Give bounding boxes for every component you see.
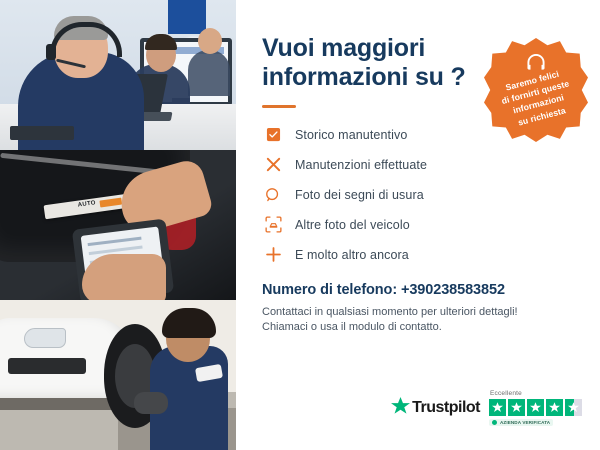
photo-mechanic-checking-tyre-on-lift: [0, 300, 236, 450]
feature-item-foto-segni-usura: Foto dei segni di usura: [262, 185, 578, 205]
feature-label: E molto altro ancora: [295, 248, 409, 262]
plus-icon: [262, 245, 284, 265]
trustpilot-star-icon: [391, 397, 410, 420]
checkbox-checked-icon: [262, 125, 284, 145]
trustpilot-wordmark: Trustpilot: [412, 399, 480, 417]
strip-logo-mark: [99, 198, 122, 208]
page-title: Vuoi maggiori informazioni su ?: [262, 34, 477, 93]
lift-platform: [0, 398, 124, 410]
star-4: [546, 399, 563, 416]
title-underline-rule: [262, 105, 296, 108]
feature-item-manutenzioni-effettuate: Manutenzioni effettuate: [262, 155, 578, 175]
trustpilot-rating: Eccellente AZIENDA VERIFICATA: [489, 390, 584, 426]
photo-column: [0, 0, 236, 450]
magnifier-icon: [262, 185, 284, 205]
headset-earcup: [46, 44, 56, 60]
background-person-2-hair: [145, 34, 177, 50]
contact-instructions: Contattaci in qualsiasi momento per ulte…: [262, 305, 578, 337]
feature-item-altre-foto-veicolo: Altre foto del veicolo: [262, 215, 578, 235]
background-person-3: [188, 50, 230, 96]
star-3: [527, 399, 544, 416]
photo-call-center-agents-with-headsets: [0, 0, 236, 150]
feature-label: Manutenzioni effettuate: [295, 158, 427, 172]
background-person-3-head: [198, 28, 222, 54]
callout-badge: Saremo felici di fornirti queste informa…: [484, 38, 588, 142]
rating-word: Eccellente: [490, 390, 522, 397]
mechanic-glove: [134, 392, 168, 414]
trustpilot-widget[interactable]: Trustpilot Eccellente AZIENDA VERIFICATA: [391, 390, 584, 426]
car-headlight: [24, 328, 66, 348]
verified-company-badge: AZIENDA VERIFICATA: [489, 419, 553, 426]
wall-banner: [168, 0, 206, 34]
star-rating: [489, 399, 584, 416]
promo-poster: Vuoi maggiori informazioni su ? Storico …: [0, 0, 600, 450]
keyboard: [10, 126, 74, 140]
contact-line-2: Chiamaci o usa il modulo di contatto.: [262, 320, 578, 336]
star-2: [508, 399, 525, 416]
contact-line-1: Contattaci in qualsiasi momento per ulte…: [262, 305, 578, 321]
feature-label: Foto dei segni di usura: [295, 188, 424, 202]
trustpilot-logo: Trustpilot: [391, 397, 480, 420]
verified-label: AZIENDA VERIFICATA: [500, 420, 550, 425]
feature-item-molto-altro: E molto altro ancora: [262, 245, 578, 265]
photo-vehicle-damage-inspection-with-tablet: [0, 150, 236, 300]
car-scan-frame-icon: [262, 215, 284, 235]
inspector-hand-lower: [82, 254, 166, 300]
tools-cross-icon: [262, 155, 284, 175]
phone-number-line[interactable]: Numero di telefono: +390238583852: [262, 282, 578, 298]
feature-label: Storico manutentivo: [295, 128, 407, 142]
verified-check-icon: [492, 420, 497, 425]
feature-label: Altre foto del veicolo: [295, 218, 410, 232]
car-grille: [8, 358, 86, 374]
feature-list: Storico manutentivo Manutenzioni effettu…: [262, 125, 578, 265]
star-5-half: [565, 399, 582, 416]
star-1: [489, 399, 506, 416]
content-panel: Vuoi maggiori informazioni su ? Storico …: [236, 0, 600, 450]
